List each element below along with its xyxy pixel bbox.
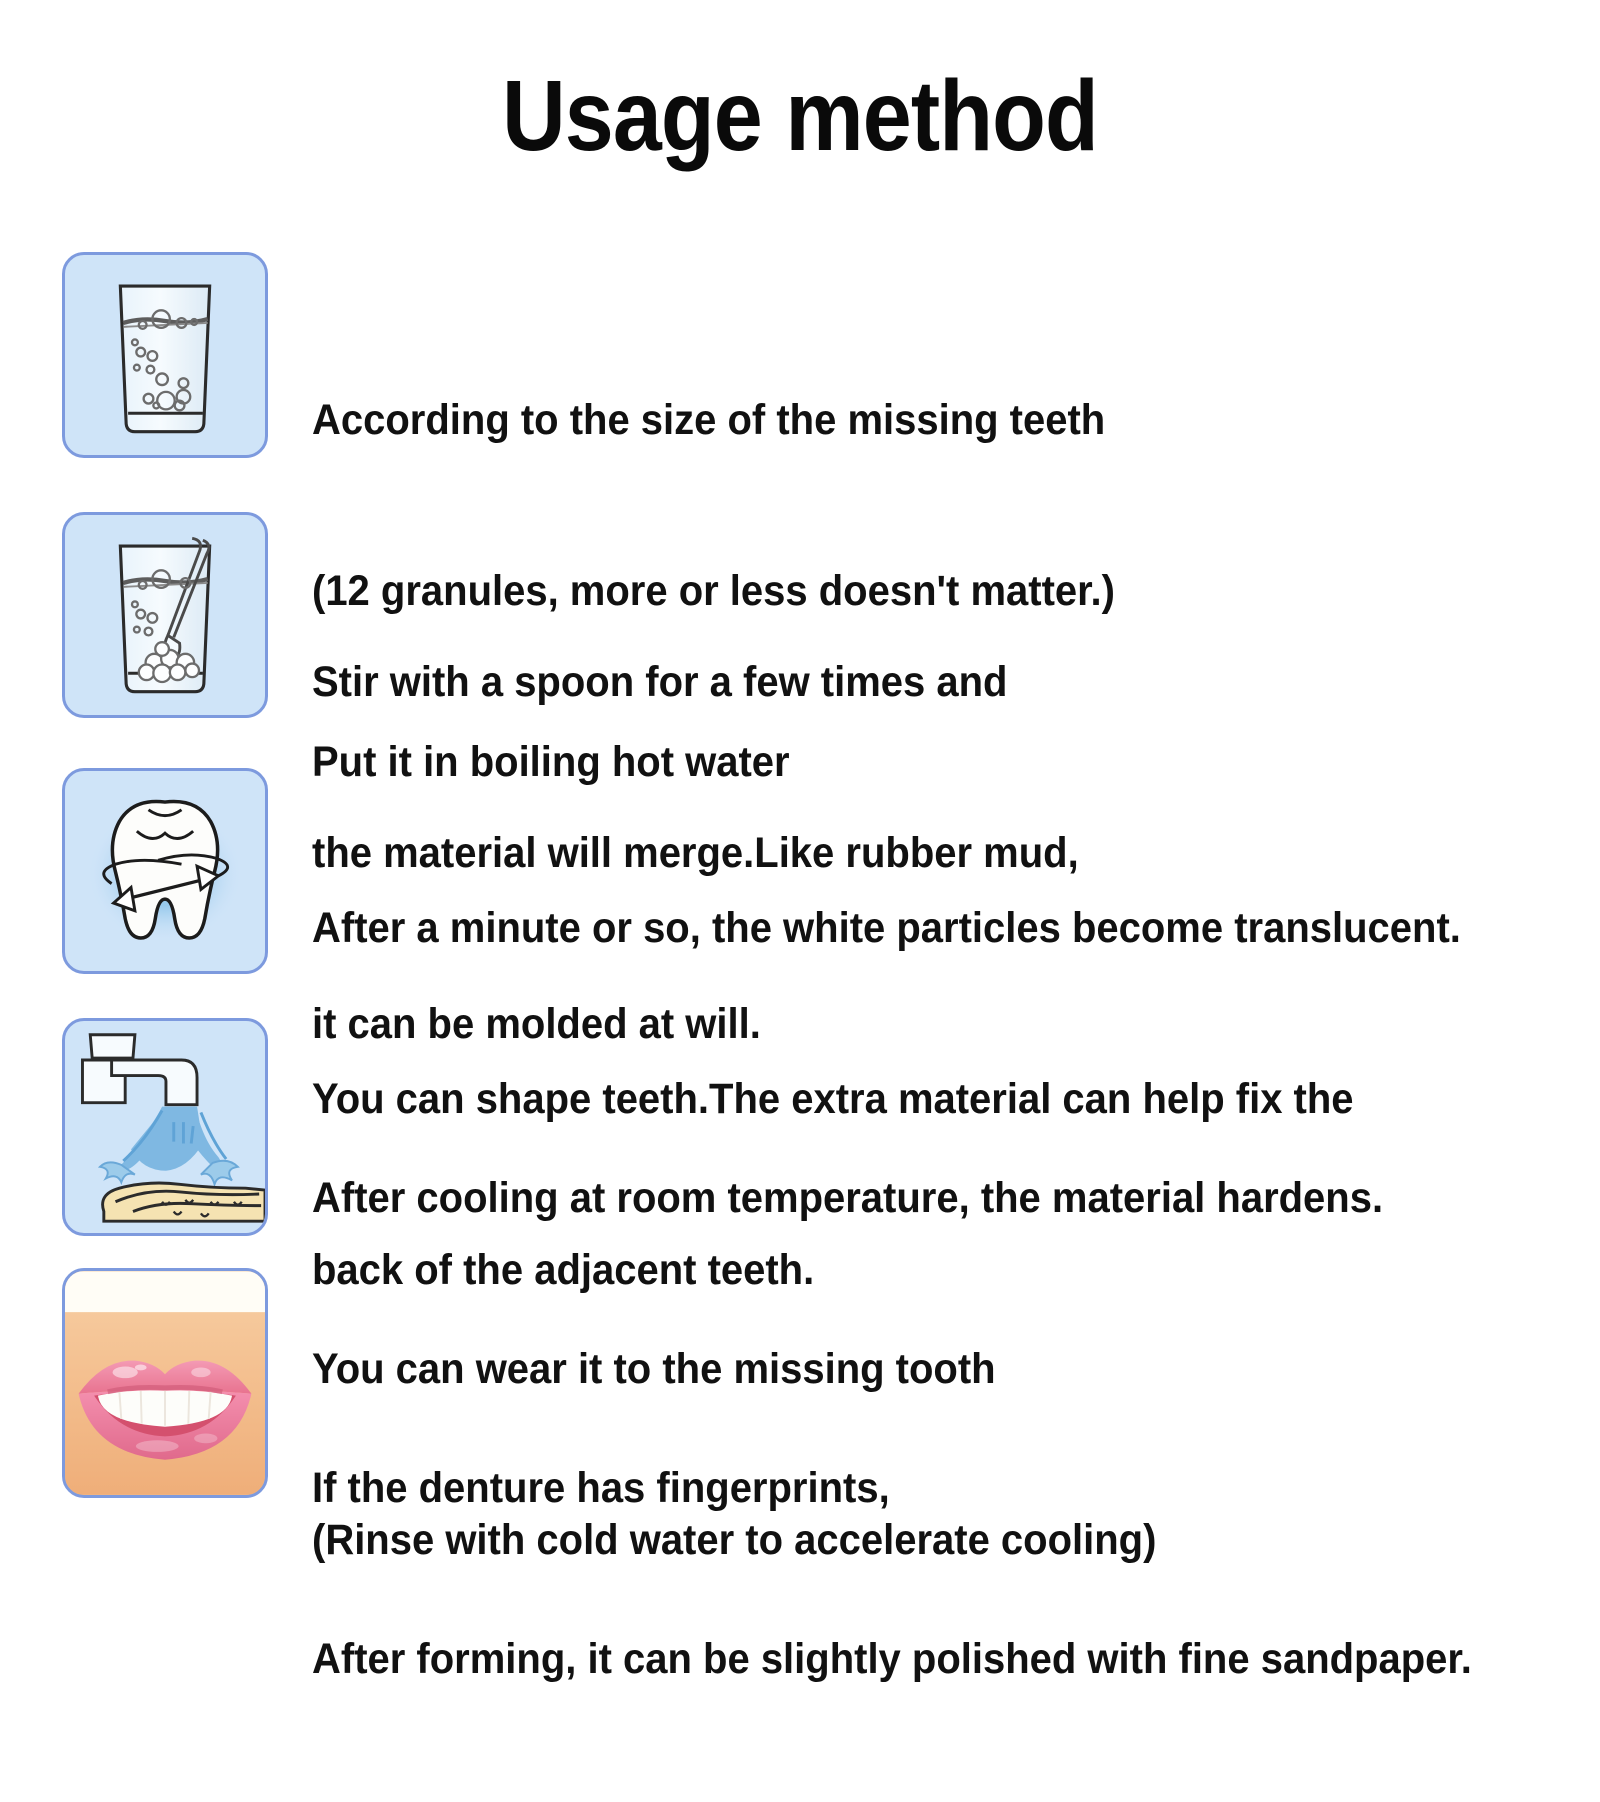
smiling-mouth-with-teeth-icon [65,1271,265,1495]
molar-tooth-with-arrows-icon [65,771,265,971]
text-line: After cooling at room temperature, the m… [312,1170,1383,1227]
step-5-icon-box [62,1268,268,1498]
steps-list: According to the size of the missing tee… [0,0,1600,1600]
text-line: Stir with a spoon for a few times and [312,654,1079,711]
text-line: If the denture has fingerprints, [312,1460,1472,1517]
text-line: After forming, it can be slightly polish… [312,1631,1472,1688]
faucet-washing-hands-icon [65,1021,265,1233]
step-4-icon-box [62,1018,268,1236]
text-line: According to the size of the missing tee… [312,392,1115,449]
glass-with-spoon-stirring-icon [65,515,265,715]
step-5-text: If the denture has fingerprints, After f… [312,1346,1472,1802]
step-2-icon-box [62,512,268,718]
glass-of-boiling-water-icon [65,255,265,455]
text-line: After a minute or so, the white particle… [312,900,1461,957]
step-3-icon-box [62,768,268,974]
step-1-icon-box [62,252,268,458]
usage-method-infographic: Usage method [0,0,1600,1600]
